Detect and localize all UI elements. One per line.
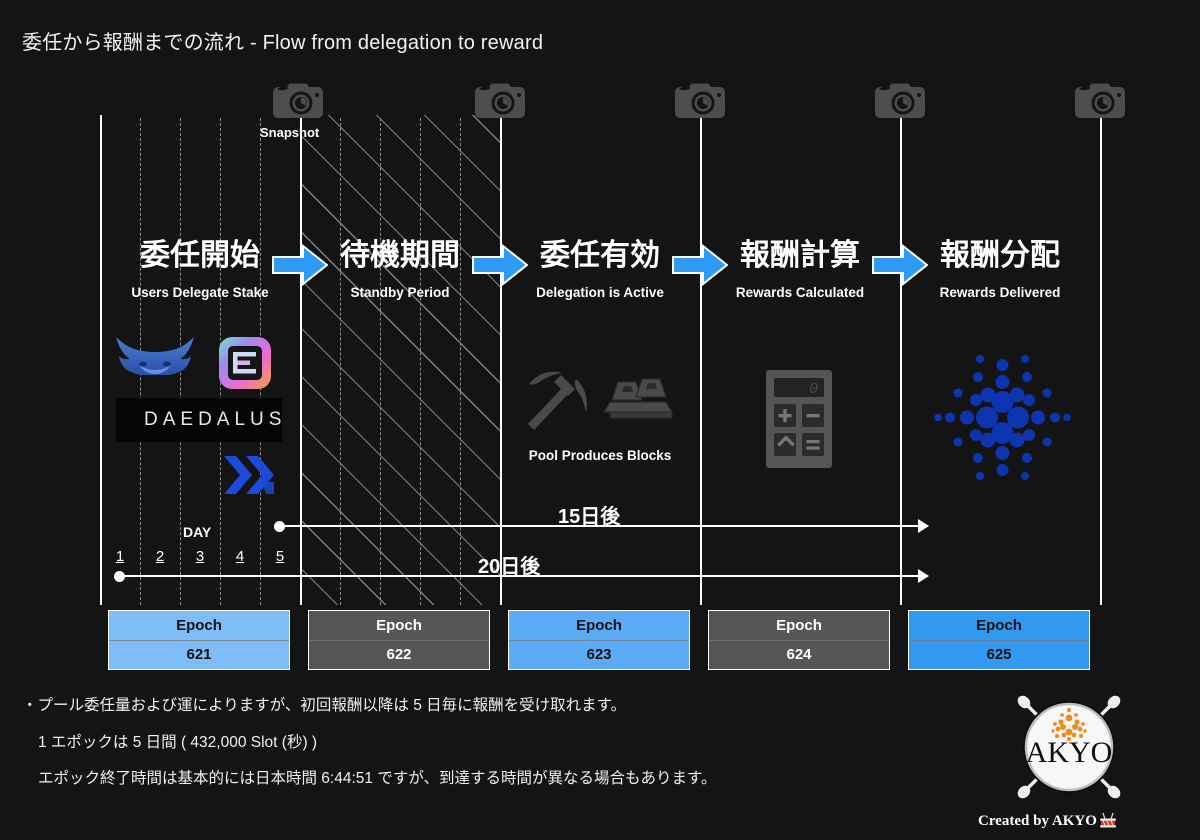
epoch-label: Epoch xyxy=(109,611,289,641)
eternl-wallet-logo xyxy=(218,336,272,395)
flow-arrow-icon-4 xyxy=(872,243,928,287)
epoch-number: 621 xyxy=(109,641,289,670)
cardano-logo-icon xyxy=(930,345,1075,495)
timeline-20-arrowhead xyxy=(918,569,929,583)
phase-rewards-delivered: 報酬分配 Rewards Delivered xyxy=(900,240,1100,300)
epoch-boundary-625-end xyxy=(1100,115,1102,605)
akyo-credit-text: Created by AKYO xyxy=(978,813,1097,830)
day-number-4: 4 xyxy=(230,548,250,565)
epoch-boundary-623-start xyxy=(500,115,502,605)
phase-title-jp: 報酬分配 xyxy=(900,240,1100,272)
footer-note-1: ・プール委任量および運によりますが、初回報酬以降は 5 日毎に報酬を受け取れます… xyxy=(22,698,972,714)
akyo-credit: Created by AKYO xyxy=(978,812,1117,830)
phase-active: 委任有効 Delegation is Active xyxy=(500,240,700,300)
epoch-box-625: Epoch 625 xyxy=(908,610,1090,670)
phase-title-en: Delegation is Active xyxy=(500,285,700,300)
flow-arrow-icon-2 xyxy=(472,243,528,287)
day-divider-5 xyxy=(340,118,341,605)
phase-title-jp: 待機期間 xyxy=(300,240,500,272)
phase-title-jp: 委任開始 xyxy=(100,240,300,272)
epoch-number: 625 xyxy=(909,641,1089,670)
epoch-boundary-624-start xyxy=(700,115,702,605)
epoch-label: Epoch xyxy=(909,611,1089,641)
day-divider-7 xyxy=(420,118,421,605)
camera-icon-4 xyxy=(872,76,928,122)
snapshot-label: Snapshot xyxy=(260,125,319,140)
epoch-box-622: Epoch 622 xyxy=(308,610,490,670)
camera-icon-5 xyxy=(1072,76,1128,122)
day-number-1: 1 xyxy=(110,548,130,565)
epoch-number: 624 xyxy=(709,641,889,670)
epoch-number: 622 xyxy=(309,641,489,670)
camera-icon-2 xyxy=(472,76,528,122)
epoch-box-621: Epoch 621 xyxy=(108,610,290,670)
epoch-boundary-625-start xyxy=(900,115,902,605)
epoch-box-623: Epoch 623 xyxy=(508,610,690,670)
day-divider-8 xyxy=(460,118,461,605)
day-divider-6 xyxy=(380,118,381,605)
phase-title-jp: 委任有効 xyxy=(500,240,700,272)
timeline-15-arrowhead xyxy=(918,519,929,533)
epoch-box-624: Epoch 624 xyxy=(708,610,890,670)
phase-title-jp: 報酬計算 xyxy=(700,240,900,272)
camera-icon-1 xyxy=(270,76,326,122)
lace-wallet-logo xyxy=(222,452,280,509)
camera-icon-3 xyxy=(672,76,728,122)
phase-standby: 待機期間 Standby Period xyxy=(300,240,500,300)
standby-hatch-band xyxy=(300,115,500,605)
timeline-15-label: 15日後 xyxy=(558,500,620,529)
daedalus-wordmark: DAEDALUS xyxy=(144,409,286,431)
gold-bars-icon xyxy=(602,370,678,433)
flow-arrow-icon-1 xyxy=(272,243,328,287)
calculator-display-value: 0 xyxy=(809,381,818,398)
yoroi-wallet-logo xyxy=(113,334,197,397)
akyo-logo: AKYO xyxy=(1008,686,1130,808)
epoch-label: Epoch xyxy=(709,611,889,641)
epoch-label: Epoch xyxy=(509,611,689,641)
day-number-3: 3 xyxy=(190,548,210,565)
calculator-icon: 0 xyxy=(766,370,832,473)
epoch-boundary-622-start xyxy=(300,115,302,605)
phase-rewards-calculated: 報酬計算 Rewards Calculated xyxy=(700,240,900,300)
footer-note-3: エポック終了時間は基本的には日本時間 6:44:51 ですが、到達する時間が異な… xyxy=(22,771,972,787)
akyo-wordmark: AKYO xyxy=(1026,736,1113,769)
day-number-5: 5 xyxy=(270,548,290,565)
day-ruler-label: DAY xyxy=(183,524,211,540)
phase-title-en: Standby Period xyxy=(300,285,500,300)
epoch-number: 623 xyxy=(509,641,689,670)
drum-icon xyxy=(1099,812,1117,830)
day-number-2: 2 xyxy=(150,548,170,565)
phase-title-en: Rewards Calculated xyxy=(700,285,900,300)
footer-notes: ・プール委任量および運によりますが、初回報酬以降は 5 日毎に報酬を受け取れます… xyxy=(22,698,972,808)
pickaxe-icon xyxy=(518,358,594,439)
epoch-label: Epoch xyxy=(309,611,489,641)
pool-produces-blocks-label: Pool Produces Blocks xyxy=(500,448,700,463)
daedalus-wallet-logo: DAEDALUS xyxy=(116,398,282,442)
phase-title-en: Rewards Delivered xyxy=(900,285,1100,300)
flow-arrow-icon-3 xyxy=(672,243,728,287)
diagram-canvas: Snapshot xyxy=(0,0,1200,690)
timeline-20-label: 20日後 xyxy=(478,550,540,579)
footer-note-2: 1 エポックは 5 日間 ( 432,000 Slot (秒) ) xyxy=(22,735,972,751)
phase-title-en: Users Delegate Stake xyxy=(100,285,300,300)
epoch-boundary-621-start xyxy=(100,115,102,605)
phase-delegation-start: 委任開始 Users Delegate Stake xyxy=(100,240,300,300)
diagram-root: 委任から報酬までの流れ - Flow from delegation to re… xyxy=(0,0,1200,840)
